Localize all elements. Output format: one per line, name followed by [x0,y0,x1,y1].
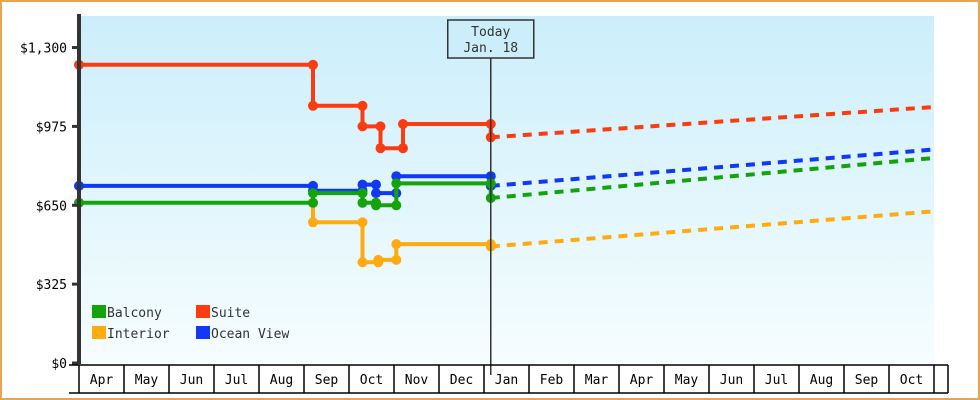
today-label-line1: Today [471,25,510,40]
legend-label: Interior [107,327,170,342]
month-tick-label: Jan [495,373,518,388]
month-tick-label: Jul [765,373,788,388]
month-tick-label: May [675,373,699,388]
month-tick-label: Apr [90,373,114,388]
legend-swatch [196,326,210,339]
month-tick-label: Sep [315,373,339,388]
legend-label: Ocean View [211,327,289,342]
month-tick-label: Jul [225,373,248,388]
month-tick-label: Oct [900,373,923,388]
month-tick-label: Sep [855,373,879,388]
y-tick-label: $1,300 [20,42,67,57]
month-tick-label: Aug [810,373,833,388]
legend-swatch [92,326,106,339]
x-axis-months: AprMayJunJulAugSepOctNovDecJanFebMarAprM… [69,365,948,393]
y-tick-label: $0 [51,357,67,372]
legend-label: Suite [211,306,250,321]
month-tick-label: Dec [450,373,473,388]
month-tick-label: Feb [540,373,564,388]
axes-layer: $0$325$650$975$1,300 [20,14,79,372]
month-tick-label: May [135,373,159,388]
month-tick-label: Apr [630,373,654,388]
today-label-line2: Jan. 18 [463,41,518,56]
chart-svg: $0$325$650$975$1,300 TodayJan. 18 AprMay… [2,2,978,398]
month-tick-label: Jun [720,373,743,388]
month-tick-label: Oct [360,373,383,388]
price-history-chart: $0$325$650$975$1,300 TodayJan. 18 AprMay… [2,2,978,398]
legend-swatch [92,305,106,318]
y-tick-label: $975 [36,120,67,135]
y-tick-label: $650 [36,199,67,214]
month-tick-label: Jun [180,373,203,388]
month-tick-label: Mar [585,373,609,388]
month-tick-label: Nov [405,373,429,388]
chart-frame: $0$325$650$975$1,300 TodayJan. 18 AprMay… [0,0,980,400]
legend-item-ocean-view[interactable]: Ocean View [196,326,289,342]
legend-label: Balcony [107,306,162,321]
legend-swatch [196,305,210,318]
y-tick-label: $325 [36,278,67,293]
month-tick-label: Aug [270,373,293,388]
